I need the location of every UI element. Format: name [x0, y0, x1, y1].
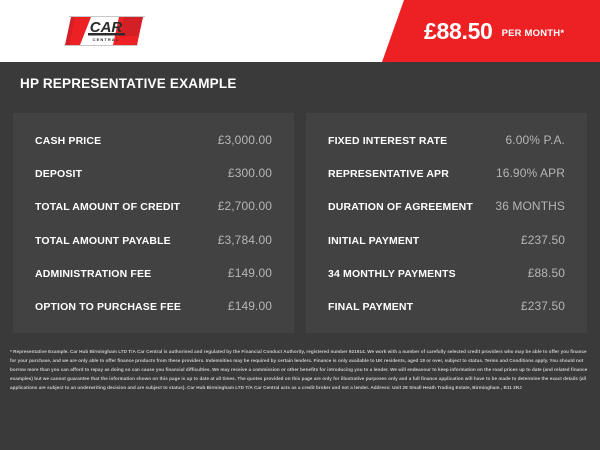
table-row: OPTION TO PURCHASE FEE £149.00	[35, 299, 272, 313]
price-banner: £88.50 PER MONTH*	[382, 0, 600, 62]
table-row: TOTAL AMOUNT PAYABLE £3,784.00	[35, 233, 272, 247]
page-header: CAR CENTRAL £88.50 PER MONTH*	[0, 0, 600, 62]
row-label: DEPOSIT	[35, 168, 82, 180]
right-details-panel: FIXED INTEREST RATE 6.00% P.A. REPRESENT…	[306, 113, 587, 333]
row-label: FIXED INTEREST RATE	[328, 135, 447, 147]
row-label: 34 MONTHLY PAYMENTS	[328, 268, 456, 280]
row-value: 16.90% APR	[496, 166, 565, 180]
row-label: TOTAL AMOUNT PAYABLE	[35, 235, 171, 247]
row-value: £237.50	[521, 233, 565, 247]
hp-representative-example-page: CAR CENTRAL £88.50 PER MONTH* HP REPRESE…	[0, 0, 600, 450]
disclaimer-text: * Representative Example. Car Hub Birmin…	[10, 348, 592, 393]
table-row: INITIAL PAYMENT £237.50	[328, 233, 565, 247]
table-row: REPRESENTATIVE APR 16.90% APR	[328, 166, 565, 180]
svg-text:CENTRAL: CENTRAL	[93, 37, 120, 42]
table-row: FINAL PAYMENT £237.50	[328, 299, 565, 313]
row-label: REPRESENTATIVE APR	[328, 168, 449, 180]
page-title: HP REPRESENTATIVE EXAMPLE	[20, 76, 237, 91]
row-label: OPTION TO PURCHASE FEE	[35, 301, 181, 313]
table-row: ADMINISTRATION FEE £149.00	[35, 266, 272, 280]
row-label: TOTAL AMOUNT OF CREDIT	[35, 201, 180, 213]
row-label: DURATION OF AGREEMENT	[328, 201, 473, 213]
svg-text:CAR: CAR	[90, 19, 123, 36]
car-central-logo[interactable]: CAR CENTRAL	[60, 12, 148, 50]
row-value: 6.00% P.A.	[506, 133, 566, 147]
row-value: £149.00	[228, 266, 272, 280]
row-value: £3,784.00	[218, 233, 272, 247]
car-central-logo-icon: CAR CENTRAL	[60, 12, 148, 50]
row-value: 36 MONTHS	[495, 199, 565, 213]
table-row: DURATION OF AGREEMENT 36 MONTHS	[328, 199, 565, 213]
row-label: CASH PRICE	[35, 135, 101, 147]
table-row: TOTAL AMOUNT OF CREDIT £2,700.00	[35, 199, 272, 213]
table-row: DEPOSIT £300.00	[35, 166, 272, 180]
price-amount: £88.50	[424, 20, 493, 43]
row-value: £300.00	[228, 166, 272, 180]
price-period-label: PER MONTH*	[502, 28, 565, 39]
table-row: CASH PRICE £3,000.00	[35, 133, 272, 147]
finance-details-panels: CASH PRICE £3,000.00 DEPOSIT £300.00 TOT…	[13, 113, 587, 333]
row-label: ADMINISTRATION FEE	[35, 268, 151, 280]
row-value: £2,700.00	[218, 199, 272, 213]
table-row: 34 MONTHLY PAYMENTS £88.50	[328, 266, 565, 280]
row-value: £149.00	[228, 299, 272, 313]
row-label: FINAL PAYMENT	[328, 301, 413, 313]
row-value: £88.50	[528, 266, 565, 280]
table-row: FIXED INTEREST RATE 6.00% P.A.	[328, 133, 565, 147]
row-label: INITIAL PAYMENT	[328, 235, 419, 247]
row-value: £3,000.00	[218, 133, 272, 147]
row-value: £237.50	[521, 299, 565, 313]
left-details-panel: CASH PRICE £3,000.00 DEPOSIT £300.00 TOT…	[13, 113, 294, 333]
